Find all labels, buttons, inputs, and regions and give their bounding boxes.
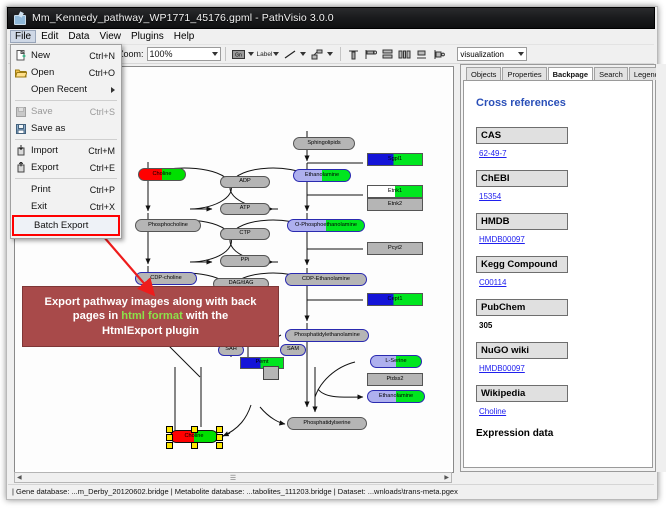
node-label: Choline: [185, 434, 204, 440]
node-label: CDP-Ethanolamine: [302, 277, 350, 283]
node-adp[interactable]: ADP: [220, 176, 270, 188]
node-phosphatidylethanolamine[interactable]: Phosphatidylethanolamine: [285, 329, 369, 342]
menu-file[interactable]: File: [10, 30, 36, 43]
file-menu-label-exit: Exit: [31, 201, 90, 212]
node-label: Phosphatidylserine: [303, 421, 350, 427]
node-label: Pemt: [255, 360, 268, 366]
status-bar: | Gene database: ...m_Derby_20120602.bri…: [8, 484, 654, 497]
menu-edit[interactable]: Edit: [36, 30, 63, 43]
annotation-line-2: pages in html format with the: [73, 309, 228, 324]
node-label: Phosphatidylethanolamine: [294, 333, 360, 339]
node-label: Ethanolamine: [305, 173, 339, 179]
blank-icon: [11, 81, 31, 98]
menu-view[interactable]: View: [94, 30, 126, 43]
stack-tool-icon[interactable]: [380, 47, 395, 61]
expression-data-header: Expression data: [476, 428, 642, 439]
node-label: Ptdss2: [386, 377, 403, 383]
node-label: CTP: [239, 231, 250, 237]
node-label: Cept1: [388, 297, 403, 303]
node-cdp-ethanolamine[interactable]: CDP-Ethanolamine: [285, 273, 367, 286]
xref-value-pubchem: 305: [479, 321, 642, 330]
cross-references-title: Cross references: [476, 97, 642, 109]
node-sam[interactable]: SAM: [280, 344, 306, 356]
file-menu-accel-import: Ctrl+M: [88, 146, 121, 156]
node-ppi[interactable]: PPi: [220, 255, 270, 267]
file-menu-item-print[interactable]: Print Ctrl+P: [11, 181, 121, 198]
file-menu-accel-open: Ctrl+O: [89, 68, 121, 78]
label-dropdown-icon[interactable]: [273, 52, 279, 56]
node-sphingolipids[interactable]: Sphingolipids: [293, 137, 355, 150]
file-menu-separator: [15, 178, 117, 179]
selection-handle[interactable]: [216, 442, 223, 449]
file-menu-label-new: New: [31, 50, 89, 61]
tab-objects[interactable]: Objects: [466, 67, 501, 80]
xref-header-cas: CAS: [476, 127, 568, 144]
node-label: Sphingolipids: [307, 141, 340, 147]
xref-header-kegg-compound: Kegg Compound: [476, 256, 568, 273]
node-atp[interactable]: ATP: [220, 203, 270, 215]
node-ptdss2[interactable]: Ptdss2: [367, 373, 423, 386]
line-dropdown-icon[interactable]: [300, 52, 306, 56]
blank-icon: [11, 181, 31, 198]
node-label: Phosphocholine: [148, 223, 188, 229]
xref-header-chebi: ChEBI: [476, 170, 568, 187]
pathvisio-icon: [13, 12, 26, 25]
node-choline-top[interactable]: Choline: [138, 168, 186, 181]
file-menu-label-print: Print: [31, 184, 90, 195]
menu-data[interactable]: Data: [63, 30, 94, 43]
node-label: ADP: [239, 179, 251, 185]
node-ctp[interactable]: CTP: [220, 228, 270, 240]
selection-handle[interactable]: [191, 442, 198, 449]
toolbar-separator: [225, 47, 226, 61]
zoom-combobox[interactable]: 100%: [147, 47, 221, 61]
distribute-tool-icon[interactable]: [397, 47, 412, 61]
selection-handle[interactable]: [166, 426, 173, 433]
node-label: SAM: [287, 347, 299, 353]
save-icon: [11, 103, 31, 120]
file-menu-item-open-recent[interactable]: Open Recent: [11, 81, 121, 98]
visualization-combobox[interactable]: visualization: [457, 47, 527, 61]
xref-value-wikipedia[interactable]: Choline: [479, 407, 642, 416]
file-menu-label-batch-export: Batch Export: [34, 220, 118, 231]
status-text: | Gene database: ...m_Derby_20120602.bri…: [8, 487, 458, 496]
file-menu-item-save: Save Ctrl+S: [11, 103, 121, 120]
file-menu-item-export[interactable]: Export Ctrl+E: [11, 159, 121, 176]
node-label: Etnk1: [388, 189, 402, 195]
annotation-line-2-b: with the: [183, 310, 228, 322]
node-ethanolamine-1[interactable]: Ethanolamine: [293, 169, 351, 182]
side-panel-tabs: Objects Properties Backpage Search Legen…: [461, 65, 655, 80]
side-panel-vertical-scrollbar[interactable]: [656, 64, 666, 472]
file-menu-label-open: Open: [31, 67, 89, 78]
zoom-value: 100%: [150, 49, 173, 59]
title-bar: Mm_Kennedy_pathway_WP1771_45176.gpml - P…: [7, 7, 655, 29]
file-menu-label-save: Save: [31, 106, 90, 117]
file-menu-accel-save: Ctrl+S: [90, 107, 121, 117]
node-label: CDP-choline: [150, 276, 181, 282]
line-tool-icon[interactable]: [283, 47, 298, 61]
common-width-tool-icon[interactable]: [414, 47, 429, 61]
annotation-line-2-a: pages in: [73, 310, 122, 322]
scroll-right-icon[interactable]: ▶: [442, 474, 451, 481]
xref-header-wikipedia: Wikipedia: [476, 385, 568, 402]
interaction-dropdown-icon[interactable]: [327, 52, 333, 56]
file-menu-accel-print: Ctrl+P: [90, 185, 121, 195]
window-title: Mm_Kennedy_pathway_WP1771_45176.gpml - P…: [32, 12, 334, 24]
blank-icon: [11, 198, 31, 215]
export-icon: [11, 159, 31, 176]
node-label: Sgpl1: [388, 157, 402, 163]
node-phosphocholine[interactable]: Phosphocholine: [135, 219, 201, 232]
node-label: Etnk2: [388, 202, 402, 208]
xref-value-hmdb[interactable]: HMDB00097: [479, 235, 642, 244]
interaction-tool-icon[interactable]: [310, 47, 325, 61]
file-menu-label-save-as: Save as: [31, 123, 115, 134]
file-menu-label-import: Import: [31, 145, 88, 156]
open-folder-icon: [11, 64, 31, 81]
align-top-tool-icon[interactable]: [346, 47, 361, 61]
node-sgpl1[interactable]: Sgpl1: [367, 153, 423, 166]
chevron-down-icon: [518, 52, 524, 56]
file-menu-accel-exit: Ctrl+X: [90, 202, 121, 212]
menu-help[interactable]: Help: [169, 30, 200, 43]
file-menu-label-open-recent: Open Recent: [31, 84, 111, 95]
file-menu-item-exit[interactable]: Exit Ctrl+X: [11, 198, 121, 215]
xref-value-nugo-wiki[interactable]: HMDB00097: [479, 364, 642, 373]
scroll-left-icon[interactable]: ◀: [15, 474, 24, 481]
node-label: Choline: [153, 172, 172, 178]
chevron-right-icon: [111, 87, 115, 93]
node-cdp-choline[interactable]: CDP-choline: [135, 272, 197, 285]
xref-value-chebi[interactable]: 15354: [479, 192, 642, 201]
file-menu-item-import[interactable]: Import Ctrl+M: [11, 142, 121, 159]
node-cept1[interactable]: Cept1: [367, 293, 423, 306]
node-label: PPi: [241, 258, 250, 264]
node-label: SAH: [225, 347, 237, 353]
node-o-phosphoethanolamine[interactable]: O-Phosphoethanolamine: [287, 219, 365, 232]
align-left-tool-icon[interactable]: [363, 47, 378, 61]
file-menu-accel-new: Ctrl+N: [89, 51, 121, 61]
node-l-serine[interactable]: L-Serine: [370, 355, 422, 368]
annotation-highlight: html format: [121, 310, 183, 322]
file-menu-label-export: Export: [31, 162, 90, 173]
new-file-icon: [11, 47, 31, 64]
tab-backpage[interactable]: Backpage: [548, 67, 593, 81]
menu-plugins[interactable]: Plugins: [126, 30, 169, 43]
application-window: Mm_Kennedy_pathway_WP1771_45176.gpml - P…: [0, 0, 670, 509]
blank-icon: [14, 217, 34, 234]
common-height-tool-icon[interactable]: [431, 47, 446, 61]
file-menu-item-open[interactable]: Open Ctrl+O: [11, 64, 121, 81]
selection-handle[interactable]: [216, 434, 223, 441]
toolbar-separator: [340, 47, 341, 61]
node-label: Pcyt2: [388, 246, 402, 252]
canvas-horizontal-scrollbar[interactable]: ◀ ☰ ▶: [14, 472, 452, 483]
selection-handle[interactable]: [216, 426, 223, 433]
node-pcyt2[interactable]: Pcyt2: [367, 242, 423, 255]
annotation-line-1: Export pathway images along with back: [45, 295, 257, 310]
xref-value-cas[interactable]: 62-49-7: [479, 149, 642, 158]
xref-header-pubchem: PubChem: [476, 299, 568, 316]
import-icon: [11, 142, 31, 159]
visualization-value: visualization: [460, 50, 504, 59]
selection-handle[interactable]: [166, 442, 173, 449]
svg-text:Gn: Gn: [235, 52, 242, 58]
selection-handle[interactable]: [191, 426, 198, 433]
node-etnk2[interactable]: Etnk2: [367, 198, 423, 211]
gene-product-dropdown-icon[interactable]: [248, 52, 254, 56]
node-etnk1[interactable]: Etnk1: [367, 185, 423, 198]
anchor-box[interactable]: [263, 366, 279, 380]
selection-handle[interactable]: [166, 434, 173, 441]
file-menu-item-new[interactable]: New Ctrl+N: [11, 47, 121, 64]
node-label: ATP: [240, 206, 250, 212]
annotation-line-3: HtmlExport plugin: [102, 324, 199, 339]
xref-header-nugo-wiki: NuGO wiki: [476, 342, 568, 359]
file-menu-item-batch-export[interactable]: Batch Export: [12, 215, 120, 236]
chevron-down-icon: [212, 52, 218, 56]
tab-search[interactable]: Search: [594, 67, 628, 80]
label-tool-label[interactable]: Label: [257, 51, 273, 58]
node-label: O-Phosphoethanolamine: [295, 223, 357, 229]
file-menu-item-save-as[interactable]: Save as: [11, 120, 121, 137]
file-menu-accel-export: Ctrl+E: [90, 163, 121, 173]
xref-header-hmdb: HMDB: [476, 213, 568, 230]
gene-product-tool-icon[interactable]: Gn: [231, 47, 246, 61]
annotation-callout: Export pathway images along with back pa…: [22, 286, 279, 347]
node-phosphatidylserine[interactable]: Phosphatidylserine: [287, 417, 367, 430]
node-ethanolamine-2[interactable]: Ethanolamine: [367, 390, 425, 403]
tab-properties[interactable]: Properties: [502, 67, 546, 80]
node-label: Ethanolamine: [379, 394, 413, 400]
scroll-thumb[interactable]: ☰: [230, 474, 236, 482]
file-menu-separator: [15, 139, 117, 140]
backpage-content: Cross references CAS 62-49-7 ChEBI 15354…: [463, 80, 653, 468]
xref-value-kegg-compound[interactable]: C00114: [479, 278, 642, 287]
file-menu-separator: [15, 100, 117, 101]
save-as-icon: [11, 120, 31, 137]
node-label: L-Serine: [385, 359, 406, 365]
menu-bar: File Edit Data View Plugins Help: [8, 29, 654, 45]
file-menu-dropdown[interactable]: New Ctrl+N Open Ctrl+O Open Recent Save …: [10, 44, 122, 239]
